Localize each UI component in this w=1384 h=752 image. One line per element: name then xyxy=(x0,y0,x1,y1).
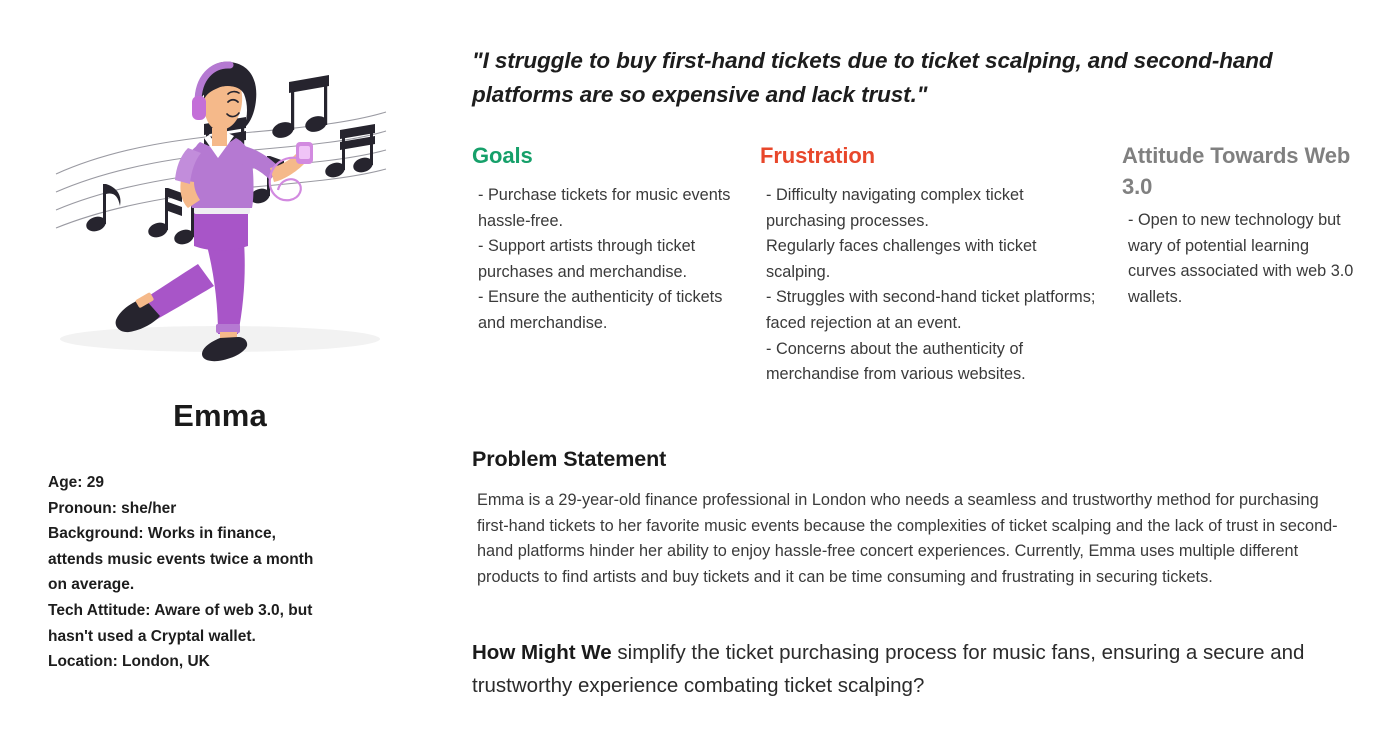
column-attitude-heading: Attitude Towards Web 3.0 xyxy=(1122,140,1360,202)
list-item: - Purchase tickets for music events hass… xyxy=(478,183,734,234)
persona-illustration xyxy=(48,46,393,376)
bio-line-tech-attitude: Tech Attitude: Aware of web 3.0, but xyxy=(48,598,400,624)
bio-line-background-cont1: attends music events twice a month xyxy=(48,547,400,573)
list-item: - Concerns about the authenticity of mer… xyxy=(766,337,1100,388)
music-player-device xyxy=(296,142,313,164)
music-note-double-flag-left xyxy=(146,188,182,240)
how-might-we-section: How Might We simplify the ticket purchas… xyxy=(472,636,1352,702)
problem-statement-title: Problem Statement xyxy=(472,447,1352,472)
column-goals-heading: Goals xyxy=(472,140,734,171)
list-item: - Difficulty navigating complex ticket p… xyxy=(766,183,1100,234)
bio-line-age: Age: 29 xyxy=(48,470,400,496)
dancing-woman-figure xyxy=(116,62,313,361)
bio-line-background: Background: Works in finance, xyxy=(48,521,400,547)
persona-right-panel: "I struggle to buy first-hand tickets du… xyxy=(450,0,1384,752)
list-item: - Support artists through ticket purchas… xyxy=(478,234,734,285)
column-frustration: Frustration - Difficulty navigating comp… xyxy=(760,140,1100,388)
music-note-beamed-right xyxy=(323,124,375,180)
persona-columns: Goals - Purchase tickets for music event… xyxy=(472,140,1372,430)
how-might-we-lead: How Might We xyxy=(472,641,612,664)
column-frustration-heading: Frustration xyxy=(760,140,1100,171)
problem-statement-body: Emma is a 29-year-old finance profession… xyxy=(472,488,1347,590)
list-item: - Struggles with second-hand ticket plat… xyxy=(766,285,1100,336)
list-item: Regularly faces challenges with ticket s… xyxy=(766,234,1100,285)
persona-bio: Age: 29 Pronoun: she/her Background: Wor… xyxy=(48,470,400,675)
column-goals-body: - Purchase tickets for music events hass… xyxy=(472,183,734,337)
column-frustration-body: - Difficulty navigating complex ticket p… xyxy=(760,183,1100,388)
figure-pant-cuff xyxy=(216,324,240,333)
bio-line-background-cont2: on average. xyxy=(48,572,400,598)
problem-statement-section: Problem Statement Emma is a 29-year-old … xyxy=(472,447,1352,590)
list-item: - Ensure the authenticity of tickets and… xyxy=(478,285,734,336)
persona-left-panel: Emma Age: 29 Pronoun: she/her Background… xyxy=(0,0,450,752)
persona-name: Emma xyxy=(0,398,440,434)
music-note-beamed-topright xyxy=(270,75,329,141)
column-attitude-body: - Open to new technology but wary of pot… xyxy=(1122,208,1360,310)
column-goals: Goals - Purchase tickets for music event… xyxy=(472,140,734,337)
column-attitude-towards-web3: Attitude Towards Web 3.0 - Open to new t… xyxy=(1122,140,1360,310)
figure-neck xyxy=(212,128,227,146)
figure-hips xyxy=(194,210,248,251)
persona-page: Emma Age: 29 Pronoun: she/her Background… xyxy=(0,0,1384,752)
bio-line-tech-attitude-cont: hasn't used a Cryptal wallet. xyxy=(48,624,400,650)
figure-front-leg xyxy=(206,242,245,334)
bio-line-pronoun: Pronoun: she/her xyxy=(48,496,400,522)
bio-line-location: Location: London, UK xyxy=(48,649,400,675)
persona-quote: "I struggle to buy first-hand tickets du… xyxy=(472,44,1312,112)
list-item: - Open to new technology but wary of pot… xyxy=(1128,208,1360,310)
